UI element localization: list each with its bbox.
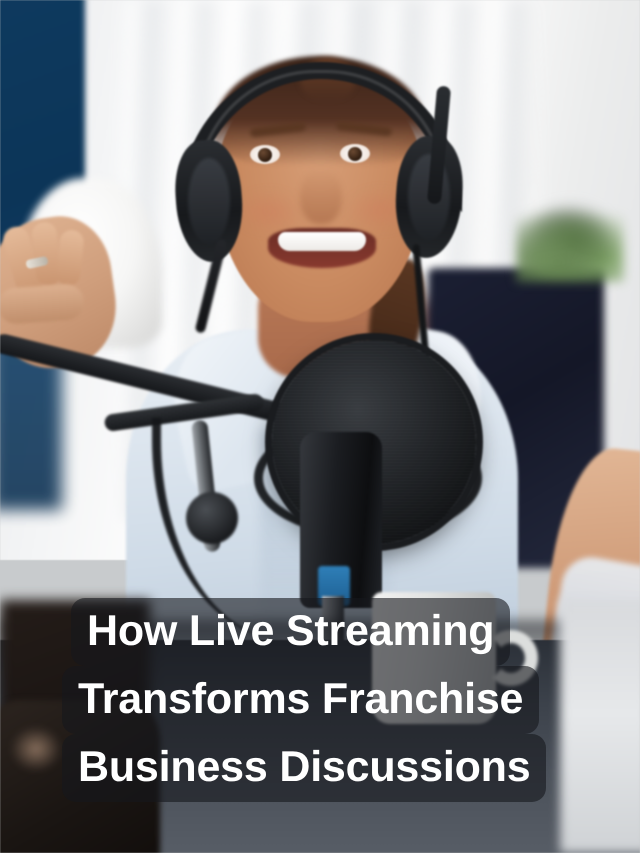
mic-boom-joint (186, 492, 238, 544)
earpad-left (188, 158, 230, 244)
teeth (278, 232, 366, 251)
title-line-1: How Live Streaming (71, 598, 510, 666)
title-line-2: Transforms Franchise (62, 666, 539, 734)
story-cover-card: How Live Streaming Transforms Franchise … (0, 0, 640, 853)
thumb (0, 283, 85, 325)
story-title: How Live Streaming Transforms Franchise … (0, 598, 640, 802)
title-line-3: Business Discussions (62, 734, 546, 802)
